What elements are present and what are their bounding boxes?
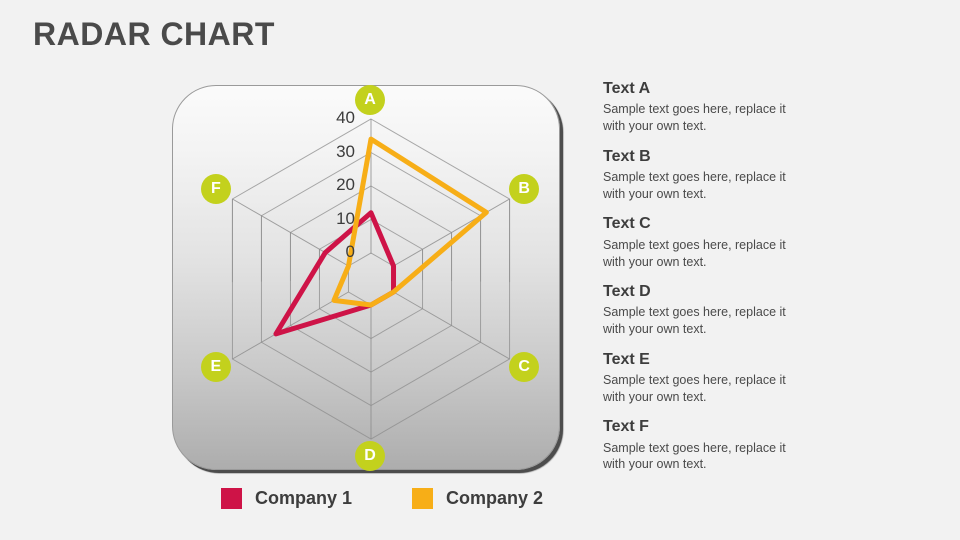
text-block-body: Sample text goes here, replace it with y… — [603, 440, 803, 474]
text-block-text-e: Text ESample text goes here, replace it … — [603, 351, 803, 406]
radar-axis-spoke — [232, 292, 348, 359]
text-block-heading: Text A — [603, 80, 803, 98]
radar-chart-graphic — [173, 86, 559, 469]
text-block-heading: Text D — [603, 283, 803, 301]
text-block-heading: Text F — [603, 418, 803, 436]
radar-grid-ring — [319, 220, 422, 339]
legend-item-company-2[interactable]: Company 2 — [412, 488, 543, 509]
text-block-text-b: Text BSample text goes here, replace it … — [603, 148, 803, 203]
radar-axis-badge-c: C — [509, 352, 539, 382]
radar-axis-spoke — [394, 292, 510, 359]
text-block-text-a: Text ASample text goes here, replace it … — [603, 80, 803, 135]
page-title: RADAR CHART — [33, 16, 275, 53]
radar-grid-ring — [261, 153, 480, 406]
text-block-body: Sample text goes here, replace it with y… — [603, 169, 803, 203]
radar-tick-label-20: 20 — [315, 176, 355, 193]
radar-axis-badge-d: D — [355, 441, 385, 471]
radar-axis-badge-e: E — [201, 352, 231, 382]
legend-label: Company 1 — [255, 488, 352, 509]
text-block-heading: Text C — [603, 215, 803, 233]
text-descriptions-column: Text ASample text goes here, replace it … — [603, 80, 803, 486]
radar-tick-label-30: 30 — [315, 143, 355, 160]
text-block-text-d: Text DSample text goes here, replace it … — [603, 283, 803, 338]
legend-swatch-icon — [412, 488, 433, 509]
radar-grid-ring — [232, 119, 509, 439]
chart-legend: Company 1Company 2 — [221, 488, 543, 509]
radar-series-company-1 — [276, 213, 394, 334]
radar-grid — [232, 119, 509, 439]
legend-label: Company 2 — [446, 488, 543, 509]
radar-series-layer — [276, 139, 486, 334]
text-block-body: Sample text goes here, replace it with y… — [603, 372, 803, 406]
radar-tick-label-10: 10 — [315, 210, 355, 227]
radar-grid-ring — [348, 253, 393, 305]
radar-series-company-2 — [334, 139, 486, 305]
radar-chart-card — [172, 85, 560, 470]
radar-tick-label-0: 0 — [315, 243, 355, 260]
text-block-heading: Text E — [603, 351, 803, 369]
radar-axis-badge-f: F — [201, 174, 231, 204]
card-gradient-surface — [173, 86, 559, 469]
text-block-body: Sample text goes here, replace it with y… — [603, 101, 803, 135]
radar-tick-label-40: 40 — [315, 109, 355, 126]
radar-axis-spoke — [394, 199, 510, 266]
legend-swatch-icon — [221, 488, 242, 509]
text-block-body: Sample text goes here, replace it with y… — [603, 304, 803, 338]
slide-canvas: RADAR CHART ABCDEF 010203040 Company 1Co… — [0, 0, 960, 540]
text-block-body: Sample text goes here, replace it with y… — [603, 237, 803, 271]
radar-axis-badge-a: A — [355, 85, 385, 115]
radar-axis-badge-b: B — [509, 174, 539, 204]
text-block-text-f: Text FSample text goes here, replace it … — [603, 418, 803, 473]
text-block-heading: Text B — [603, 148, 803, 166]
text-block-text-c: Text CSample text goes here, replace it … — [603, 215, 803, 270]
legend-item-company-1[interactable]: Company 1 — [221, 488, 352, 509]
